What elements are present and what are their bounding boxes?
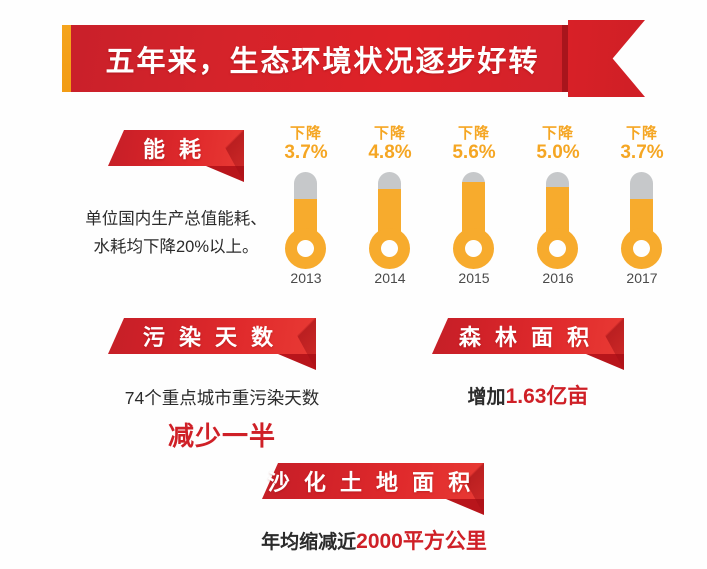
- thermometer-value: 5.0%: [516, 143, 600, 162]
- energy-description: 单位国内生产总值能耗、 水耗均下降20%以上。: [62, 205, 290, 261]
- pollution-description: 74个重点城市重污染天数: [100, 385, 344, 412]
- thermometer-year-label: 2016: [516, 270, 600, 286]
- desert-description-highlight: 2000平方公里: [356, 530, 487, 553]
- header-ribbon: 五年来，生态环境状况逐步好转: [62, 25, 645, 92]
- section-banner-pollution: 污 染 天 数: [108, 318, 316, 364]
- thermometer-bulb: [369, 228, 410, 269]
- desert-description: 年均缩减近2000平方公里: [240, 528, 508, 556]
- thermometer-value: 4.8%: [348, 143, 432, 162]
- thermometer-year-label: 2013: [264, 270, 348, 286]
- thermometer-trend-word: 下降: [432, 124, 516, 143]
- thermometer-caption: 下降 5.0%: [516, 124, 600, 162]
- pollution-highlight: 减少一半: [100, 416, 344, 453]
- thermometer-2015: 下降 5.6% 2015: [432, 124, 516, 276]
- thermometer-gauge: [462, 172, 485, 230]
- thermometer-bulb: [453, 228, 494, 269]
- thermometer-2013: 下降 3.7% 2013: [264, 124, 348, 276]
- energy-description-line2: 水耗均下降20%以上。: [62, 233, 290, 261]
- section-label-desert: 沙 化 土 地 面 积: [262, 463, 484, 499]
- thermometer-trend-word: 下降: [600, 124, 684, 143]
- thermometer-gauge: [294, 172, 317, 230]
- thermometer-value: 3.7%: [264, 143, 348, 162]
- thermometer-bulb: [285, 228, 326, 269]
- section-banner-energy: 能 耗: [108, 130, 244, 176]
- section-label-energy: 能 耗: [108, 130, 244, 166]
- header-orange-tab: [62, 25, 71, 92]
- desert-description-lead: 年均缩减近: [261, 532, 356, 553]
- thermometer-year-label: 2015: [432, 270, 516, 286]
- thermometer-2017: 下降 3.7% 2017: [600, 124, 684, 276]
- thermometer-gauge: [630, 172, 653, 230]
- thermometer-year-label: 2014: [348, 270, 432, 286]
- thermometer-chart: 下降 3.7% 2013 下降 4.8% 2014 下降: [264, 124, 688, 276]
- thermometer-caption: 下降 4.8%: [348, 124, 432, 162]
- thermometer-gauge: [546, 172, 569, 230]
- thermometer-bulb: [621, 228, 662, 269]
- thermometer-trend-word: 下降: [264, 124, 348, 143]
- thermometer-gauge: [378, 172, 401, 230]
- infographic-canvas: 五年来，生态环境状况逐步好转 能 耗 单位国内生产总值能耗、 水耗均下降20%以…: [0, 0, 707, 569]
- forest-description-lead: 增加: [468, 387, 506, 408]
- thermometer-value: 3.7%: [600, 143, 684, 162]
- thermometer-trend-word: 下降: [516, 124, 600, 143]
- banner-fold: [446, 499, 484, 515]
- section-label-forest: 森 林 面 积: [432, 318, 624, 354]
- banner-fold: [206, 166, 244, 182]
- thermometer-value: 5.6%: [432, 143, 516, 162]
- section-label-pollution: 污 染 天 数: [108, 318, 316, 354]
- thermometer-caption: 下降 5.6%: [432, 124, 516, 162]
- energy-description-line1: 单位国内生产总值能耗、: [62, 205, 290, 233]
- thermometer-year-label: 2017: [600, 270, 684, 286]
- page-title: 五年来，生态环境状况逐步好转: [71, 25, 568, 92]
- banner-fold: [278, 354, 316, 370]
- section-banner-forest: 森 林 面 积: [432, 318, 624, 364]
- thermometer-2014: 下降 4.8% 2014: [348, 124, 432, 276]
- thermometer-caption: 下降 3.7%: [264, 124, 348, 162]
- header-ribbon-tail: [568, 20, 645, 97]
- thermometer-caption: 下降 3.7%: [600, 124, 684, 162]
- thermometer-2016: 下降 5.0% 2016: [516, 124, 600, 276]
- forest-description-highlight: 1.63亿亩: [506, 385, 589, 408]
- thermometer-fill: [462, 182, 485, 230]
- forest-description: 增加1.63亿亩: [428, 383, 628, 411]
- section-banner-desert: 沙 化 土 地 面 积: [262, 463, 484, 509]
- banner-fold: [586, 354, 624, 370]
- thermometer-trend-word: 下降: [348, 124, 432, 143]
- thermometer-bulb: [537, 228, 578, 269]
